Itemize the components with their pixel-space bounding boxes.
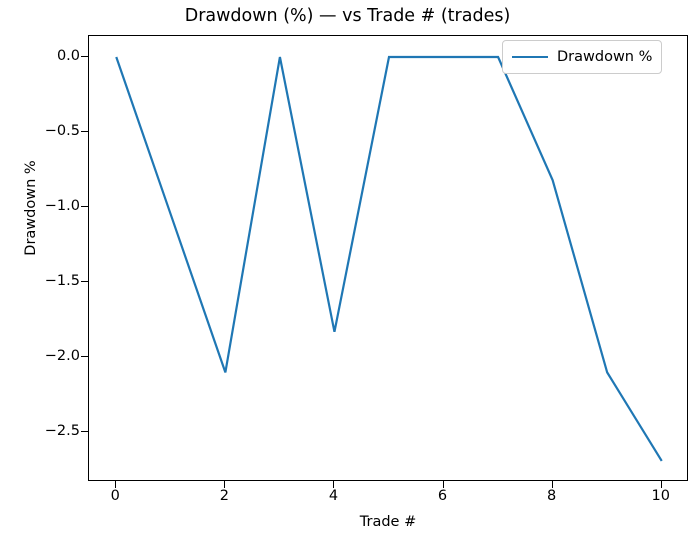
x-tick-mark (552, 481, 553, 488)
y-tick-mark (81, 206, 88, 207)
x-tick-mark (333, 481, 334, 488)
chart-title: Drawdown (%) — vs Trade # (trades) (0, 6, 695, 26)
x-tick-label: 4 (303, 488, 363, 504)
y-tick-mark (81, 56, 88, 57)
y-axis-tick-labels: 0.0−0.5−1.0−1.5−2.0−2.5 (8, 0, 80, 546)
x-tick-mark (224, 481, 225, 488)
x-tick-mark (661, 481, 662, 488)
x-tick-label: 0 (85, 488, 145, 504)
chart-figure: Drawdown (%) — vs Trade # (trades) Drawd… (0, 0, 695, 546)
x-tick-label: 2 (194, 488, 254, 504)
x-tick-mark (115, 481, 116, 488)
y-tick-label: −0.5 (10, 123, 80, 139)
series-line-drawdown-percent (116, 57, 661, 461)
x-axis-label: Trade # (88, 514, 688, 530)
y-tick-label: −2.0 (10, 348, 80, 364)
y-tick-mark (81, 281, 88, 282)
y-tick-label: −1.5 (10, 273, 80, 289)
chart-legend: Drawdown % (502, 40, 662, 74)
x-tick-label: 8 (522, 488, 582, 504)
y-tick-label: −1.0 (10, 198, 80, 214)
legend-label-drawdown-percent: Drawdown % (557, 49, 652, 65)
y-tick-label: −2.5 (10, 423, 80, 439)
data-line-plot (89, 36, 689, 482)
legend-line-swatch (512, 56, 548, 58)
x-tick-label: 10 (631, 488, 691, 504)
y-tick-mark (81, 431, 88, 432)
x-tick-mark (443, 481, 444, 488)
y-tick-mark (81, 356, 88, 357)
y-tick-label: 0.0 (10, 48, 80, 64)
y-tick-mark (81, 131, 88, 132)
plot-area (88, 35, 688, 481)
x-tick-label: 6 (413, 488, 473, 504)
